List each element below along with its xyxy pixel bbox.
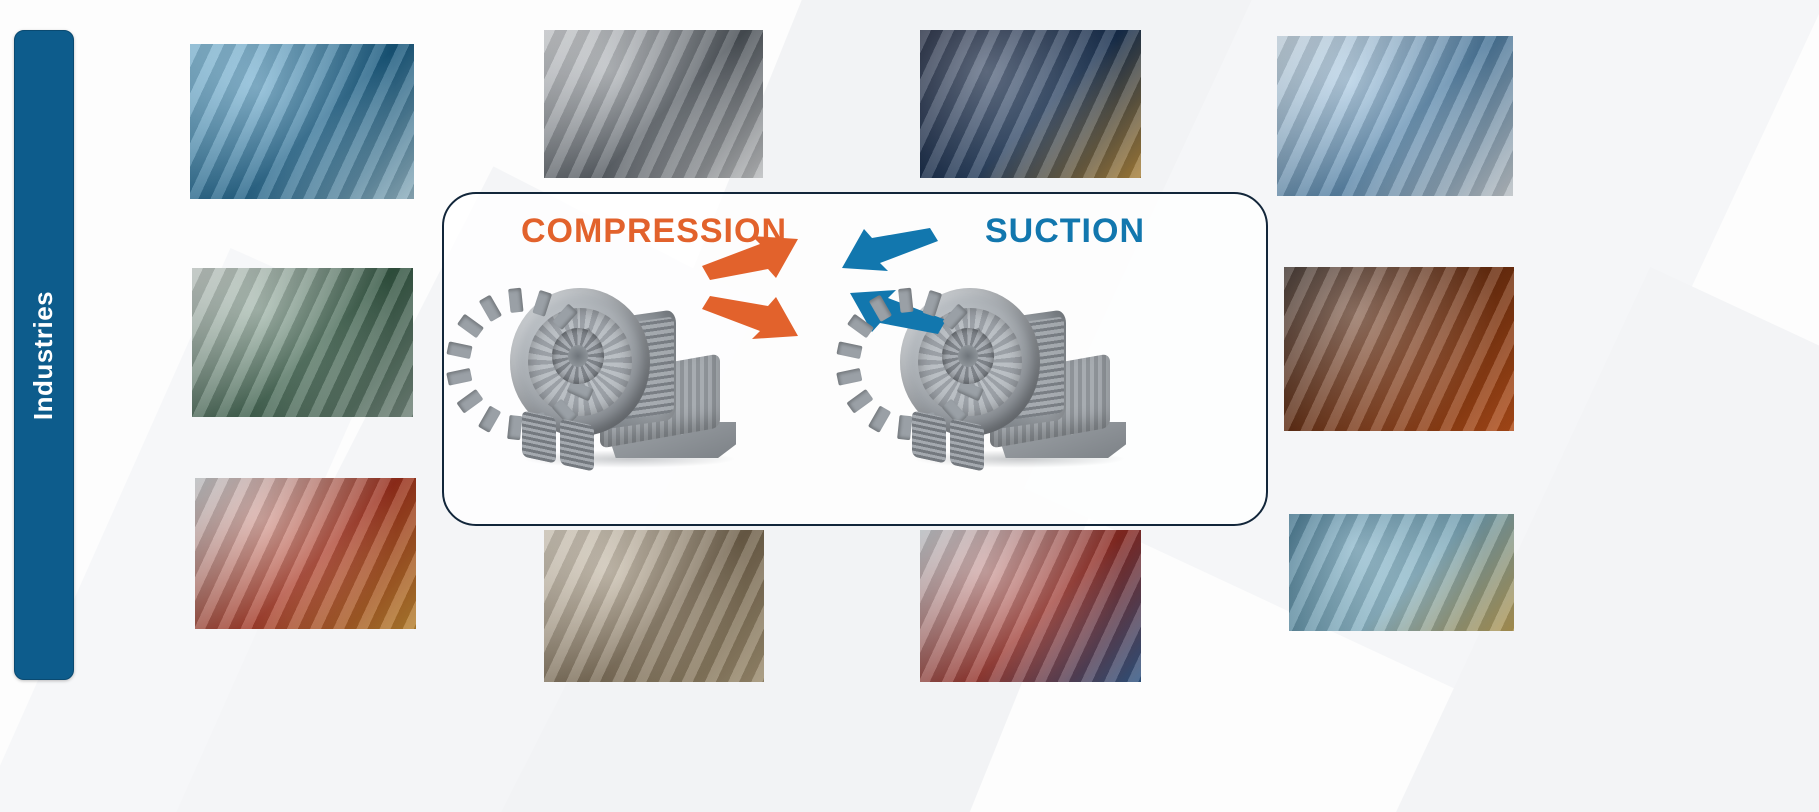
blower-image-suction <box>894 272 1144 487</box>
photo-automotive-paint-line <box>544 30 763 178</box>
photo-printing-press-content <box>1277 36 1513 196</box>
photo-packaging-line <box>920 530 1141 682</box>
operating-principle-panel: COMPRESSION SUCTION <box>442 192 1268 526</box>
blower-foot <box>912 410 946 463</box>
photo-beverage-bottling <box>190 44 414 199</box>
blower-foot <box>522 410 556 463</box>
compression-arrow-out-upper <box>702 236 798 280</box>
blower-impeller-hub <box>552 328 604 384</box>
photo-wastewater-treatment-content <box>1289 514 1514 631</box>
blower-foot <box>560 418 594 471</box>
industries-side-tab-label: Industries <box>29 290 60 419</box>
blower-impeller-hub <box>942 328 994 384</box>
photo-printing-press <box>1277 36 1513 196</box>
slide-canvas: Industries COMPRESSION SUCTION <box>0 0 1819 812</box>
industries-side-tab[interactable]: Industries <box>14 30 74 680</box>
blower-foot <box>950 418 984 471</box>
photo-paper-converting <box>544 530 764 682</box>
photo-petrochemical-plant <box>920 30 1141 178</box>
photo-packaging-line-content <box>920 530 1141 682</box>
photo-automotive-paint-line-content <box>544 30 763 178</box>
photo-paper-converting-content <box>544 530 764 682</box>
photo-petrochemical-plant-content <box>920 30 1141 178</box>
photo-food-processing-content <box>195 478 416 629</box>
photo-steel-mill-content <box>1284 267 1514 431</box>
photo-wastewater-treatment <box>1289 514 1514 631</box>
compression-heading: COMPRESSION <box>444 212 864 251</box>
photo-textile-spinning <box>192 268 413 417</box>
compression-arrow-out-lower <box>702 296 798 340</box>
photo-food-processing <box>195 478 416 629</box>
photo-textile-spinning-content <box>192 268 413 417</box>
photo-steel-mill <box>1284 267 1514 431</box>
suction-arrow-in-upper <box>842 228 938 272</box>
photo-beverage-bottling-content <box>190 44 414 199</box>
